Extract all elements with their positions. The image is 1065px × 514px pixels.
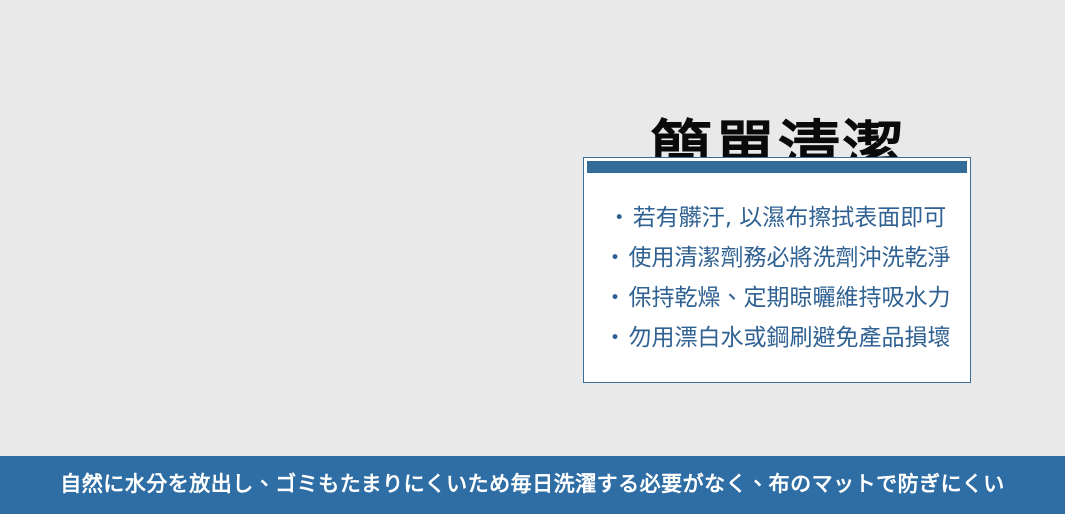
bullet-icon: ・ — [608, 198, 631, 238]
slide-canvas: 簡單清潔 ・若有髒汙, 以濕布擦拭表面即可 ・使用清潔劑務必將洗劑沖洗乾淨 ・保… — [0, 0, 1065, 514]
bullet-icon: ・ — [604, 318, 627, 358]
bullet-icon: ・ — [604, 278, 627, 318]
list-item-label: 使用清潔劑務必將洗劑沖洗乾淨 — [629, 245, 951, 271]
banner-caption-text: 自然に水分を放出し、ゴミもたまりにくいため毎日洗濯する必要がなく、布のマットで防… — [60, 472, 1005, 498]
list-item: ・若有髒汙, 以濕布擦拭表面即可 — [584, 198, 970, 238]
list-item-label: 保持乾燥、定期晾曬維持吸水力 — [629, 285, 951, 311]
bottom-caption-banner: 自然に水分を放出し、ゴミもたまりにくいため毎日洗濯する必要がなく、布のマットで防… — [0, 456, 1065, 514]
list-item-label: 勿用漂白水或鋼刷避免產品損壞 — [629, 325, 951, 351]
list-item-label: 若有髒汙, 以濕布擦拭表面即可 — [633, 205, 947, 231]
care-tips-list: ・若有髒汙, 以濕布擦拭表面即可 ・使用清潔劑務必將洗劑沖洗乾淨 ・保持乾燥、定… — [584, 198, 970, 358]
callout-top-accent-bar — [587, 161, 967, 173]
list-item: ・保持乾燥、定期晾曬維持吸水力 — [584, 278, 970, 318]
care-tips-callout-box: ・若有髒汙, 以濕布擦拭表面即可 ・使用清潔劑務必將洗劑沖洗乾淨 ・保持乾燥、定… — [583, 157, 971, 383]
list-item: ・使用清潔劑務必將洗劑沖洗乾淨 — [584, 238, 970, 278]
bullet-icon: ・ — [604, 238, 627, 278]
list-item: ・勿用漂白水或鋼刷避免產品損壞 — [584, 318, 970, 358]
